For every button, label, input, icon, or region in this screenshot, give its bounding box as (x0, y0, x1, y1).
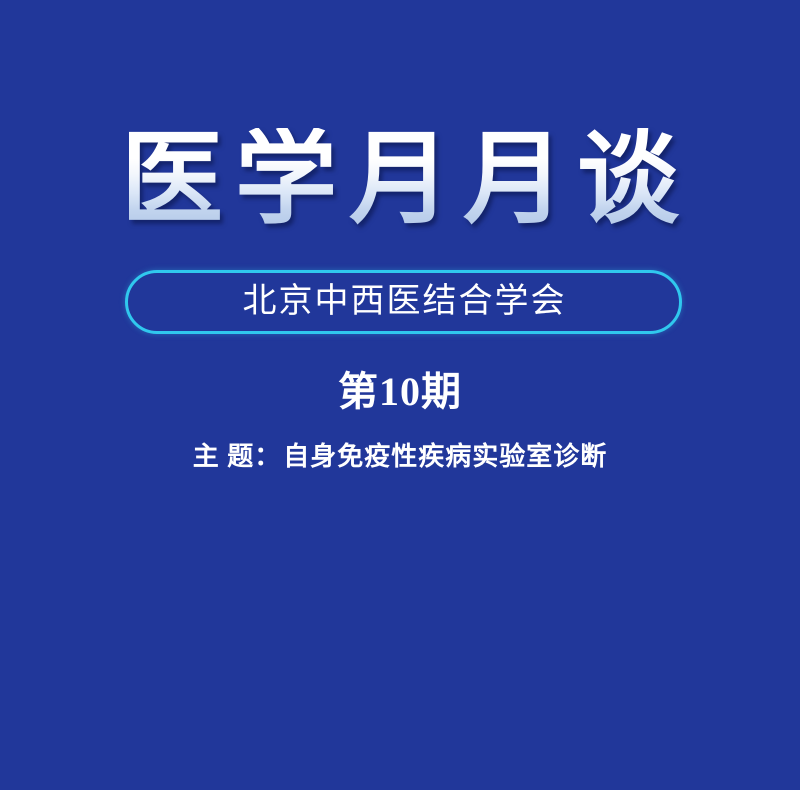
organization-pill: 北京中西医结合学会 (125, 270, 682, 334)
episode-label: 第10期 (0, 372, 800, 412)
organization-name: 北京中西医结合学会 (241, 285, 567, 319)
theme-value: 自身免疫性疾病实验室诊断 (283, 442, 607, 471)
main-title-container: 医学月月谈 (0, 128, 800, 230)
theme-label: 主 题： (193, 442, 282, 471)
poster-canvas: 医学月月谈 北京中西医结合学会 第10期 主 题：自身免疫性疾病实验室诊断 (0, 0, 800, 790)
main-title: 医学月月谈 (109, 128, 691, 230)
theme-line: 主 题：自身免疫性疾病实验室诊断 (0, 442, 800, 472)
